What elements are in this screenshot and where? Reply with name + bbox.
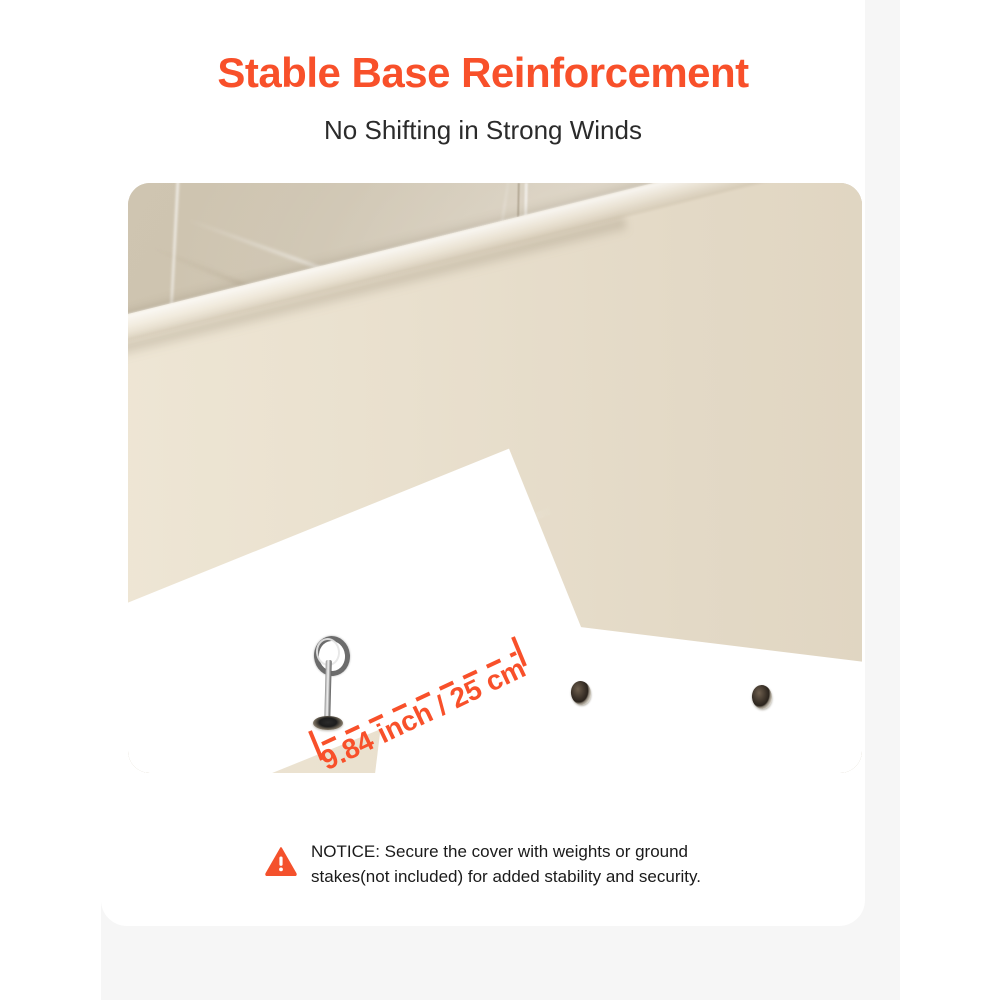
warning-triangle-icon — [265, 846, 297, 876]
notice-row: NOTICE: Secure the cover with weights or… — [101, 840, 865, 889]
notice-line-1: NOTICE: Secure the cover with weights or… — [311, 842, 688, 861]
product-feature-card: Stable Base Reinforcement No Shifting in… — [0, 0, 1000, 1000]
stake-grommet-hole — [313, 716, 343, 730]
page-title: Stable Base Reinforcement — [101, 50, 865, 96]
ground-stake-icon — [306, 636, 350, 728]
page-subtitle: No Shifting in Strong Winds — [101, 115, 865, 146]
stake-shaft — [324, 660, 332, 722]
product-photo — [128, 183, 862, 773]
notice-text: NOTICE: Secure the cover with weights or… — [311, 840, 701, 889]
notice-line-2: stakes(not included) for added stability… — [311, 867, 701, 886]
